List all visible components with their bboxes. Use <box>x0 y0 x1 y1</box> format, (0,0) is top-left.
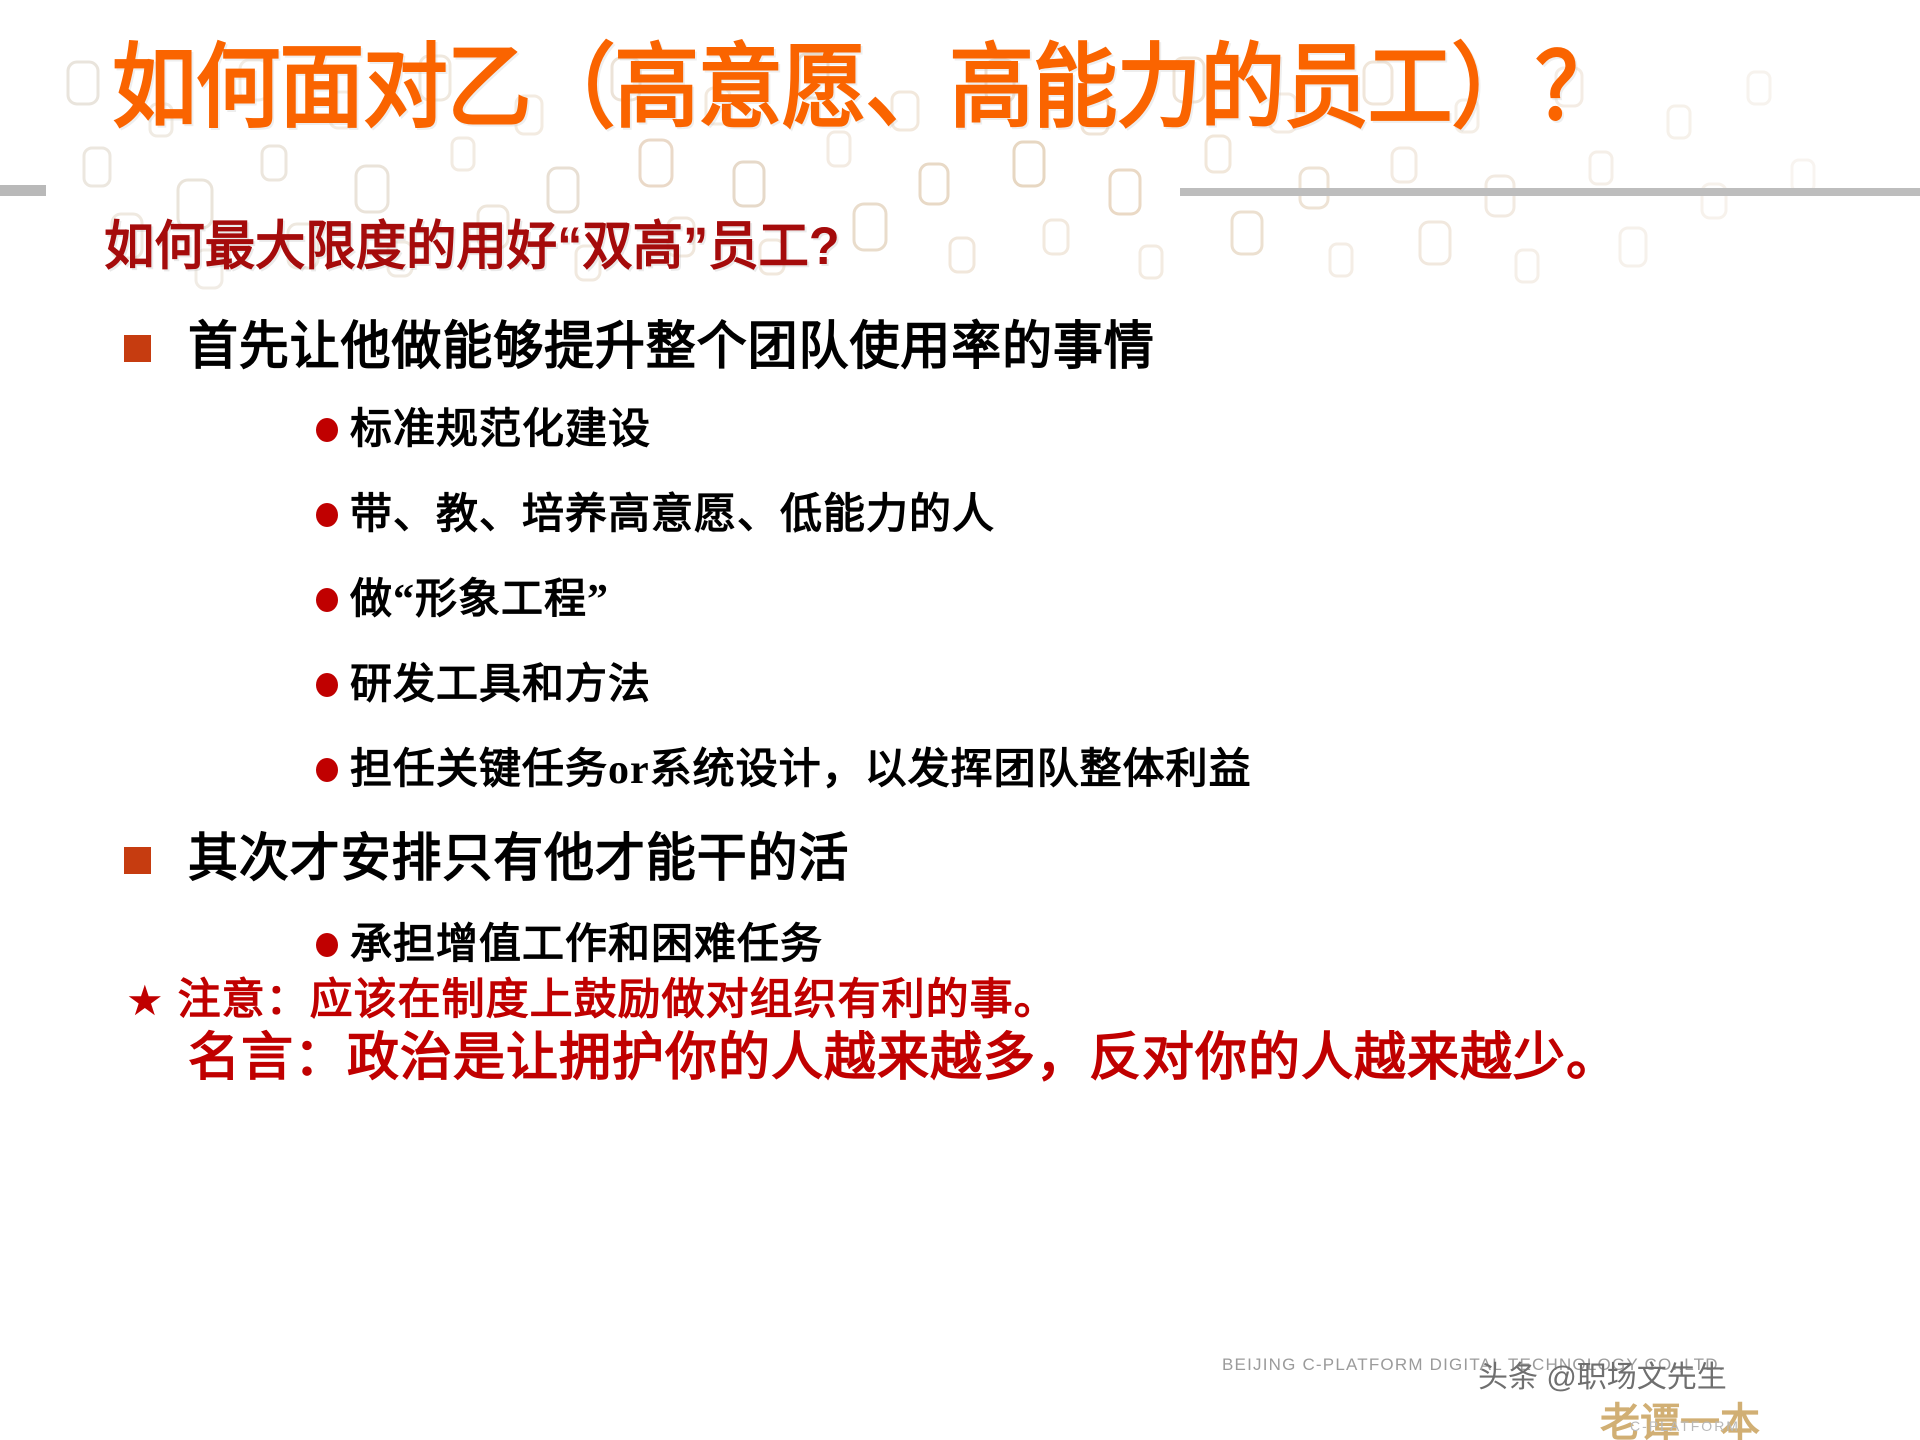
quote-label: 名言：政治是让拥护你的人越来越多，反对你的人越来越少。 <box>188 1028 1619 1090</box>
list-item: 担任关键任务or系统设计，以发挥团队整体利益 <box>316 745 1252 795</box>
dot-bullet-icon <box>316 588 338 612</box>
list-item: 做“形象工程” <box>316 575 609 625</box>
dot-bullet-icon <box>316 418 338 442</box>
dot-bullet-icon <box>316 758 338 782</box>
dot-bullet-icon <box>316 503 338 527</box>
list-item: 标准规范化建设 <box>316 405 651 455</box>
list-item-label: 标准规范化建设 <box>350 405 651 455</box>
watermark-brand-sub-label: C-PLATFORM <box>1630 1418 1740 1434</box>
dot-bullet-icon <box>316 673 338 697</box>
square-bullet-icon <box>124 335 151 362</box>
section-heading-2: 其次才安排只有他才能干的活 <box>124 830 877 890</box>
slide-root: 如何面对乙（高意愿、高能力的员工）？ 如何最大限度的用好“双高”员工? 首先让他… <box>0 0 1920 1440</box>
note-label: 注意：应该在制度上鼓励做对组织有利的事。 <box>178 975 1058 1027</box>
section-heading-1: 首先让他做能够提升整个团队使用率的事情 <box>124 318 1195 378</box>
section-heading-label: 首先让他做能够提升整个团队使用率的事情 <box>188 318 1155 378</box>
list-item-label: 担任关键任务or系统设计，以发挥团队整体利益 <box>350 745 1252 795</box>
dot-bullet-icon <box>316 933 338 957</box>
list-item: 承担增值工作和困难任务 <box>316 920 823 970</box>
section-heading-label: 其次才安排只有他才能干的活 <box>188 830 849 890</box>
star-icon: ★ <box>126 975 164 1027</box>
list-item: 研发工具和方法 <box>316 660 651 710</box>
list-item-label: 研发工具和方法 <box>350 660 651 710</box>
list-item-label: 做“形象工程” <box>350 575 609 625</box>
list-item: 带、教、培养高意愿、低能力的人 <box>316 490 995 540</box>
body-content: 首先让他做能够提升整个团队使用率的事情 标准规范化建设 带、教、培养高意愿、低能… <box>0 0 1920 1440</box>
list-item-label: 承担增值工作和困难任务 <box>350 920 823 970</box>
note-block: ★ 注意：应该在制度上鼓励做对组织有利的事。 <box>126 975 1058 1027</box>
list-item-label: 带、教、培养高意愿、低能力的人 <box>350 490 995 540</box>
square-bullet-icon <box>124 847 151 874</box>
